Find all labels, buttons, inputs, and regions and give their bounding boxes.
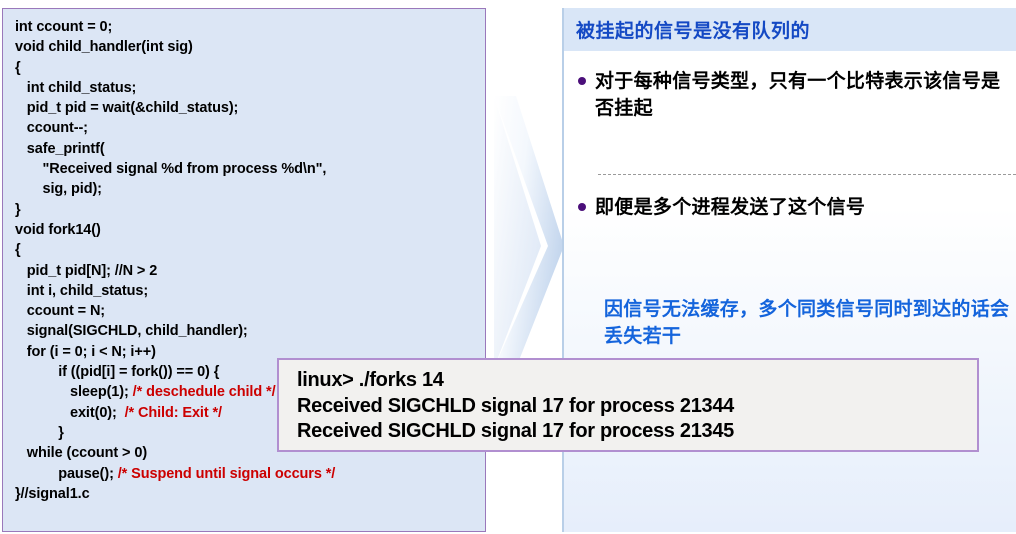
code-line: { [15, 58, 483, 78]
code-text: void child_handler(int sig) [15, 39, 193, 55]
code-text: } [15, 202, 21, 218]
code-text: ccount--; [15, 120, 88, 136]
code-text: { [15, 242, 21, 258]
code-text: ccount = N; [15, 303, 105, 319]
code-text: while (ccount > 0) [15, 445, 147, 461]
code-text: }//signal1.c [15, 486, 90, 502]
code-comment: /* Child: Exit */ [125, 405, 222, 421]
code-line: int i, child_status; [15, 281, 483, 301]
code-panel: int ccount = 0;void child_handler(int si… [2, 8, 486, 532]
code-line: void fork14() [15, 220, 483, 240]
code-text: safe_printf( [15, 141, 105, 157]
code-text: int ccount = 0; [15, 19, 112, 35]
code-line: ccount--; [15, 118, 483, 138]
bullet-dot-icon [578, 203, 586, 211]
terminal-output-text: linux> ./forks 14Received SIGCHLD signal… [297, 368, 734, 445]
code-text: int i, child_status; [15, 283, 148, 299]
terminal-output-box: linux> ./forks 14Received SIGCHLD signal… [277, 358, 979, 452]
code-line: void child_handler(int sig) [15, 37, 483, 57]
code-line: pid_t pid[N]; //N > 2 [15, 261, 483, 281]
code-text: { [15, 60, 21, 76]
code-line: { [15, 240, 483, 260]
content-panel: 被挂起的信号是没有队列的 对于每种信号类型，只有一个比特表示该信号是否挂起 即便… [562, 8, 1016, 532]
code-text: if ((pid[i] = fork()) == 0) { [15, 364, 219, 380]
code-line: pid_t pid = wait(&child_status); [15, 98, 483, 118]
code-line: signal(SIGCHLD, child_handler); [15, 321, 483, 341]
code-line: } [15, 200, 483, 220]
code-text: void fork14() [15, 222, 101, 238]
terminal-line: Received SIGCHLD signal 17 for process 2… [297, 394, 734, 420]
code-text: for (i = 0; i < N; i++) [15, 344, 156, 360]
code-line: "Received signal %d from process %d\n", [15, 159, 483, 179]
bullet-item: 即便是多个进程发送了这个信号 [578, 194, 1010, 221]
code-line: int ccount = 0; [15, 17, 483, 37]
code-line: pause(); /* Suspend until signal occurs … [15, 464, 483, 484]
bullet-item: 对于每种信号类型，只有一个比特表示该信号是否挂起 [578, 68, 1010, 122]
code-line: }//signal1.c [15, 484, 483, 504]
bullet-item-label: 即便是多个进程发送了这个信号 [595, 194, 865, 221]
code-line: sig, pid); [15, 179, 483, 199]
code-line: safe_printf( [15, 139, 483, 159]
slide-canvas: int ccount = 0;void child_handler(int si… [0, 0, 1016, 534]
code-text: sleep(1); [15, 384, 133, 400]
terminal-line: Received SIGCHLD signal 17 for process 2… [297, 419, 734, 445]
panel-title: 被挂起的信号是没有队列的 [576, 16, 810, 43]
flow-arrow-right-icon [486, 96, 566, 368]
code-line: ccount = N; [15, 301, 483, 321]
code-text: exit(0); [15, 405, 125, 421]
code-text: signal(SIGCHLD, child_handler); [15, 323, 248, 339]
code-line: int child_status; [15, 78, 483, 98]
code-comment: /* Suspend until signal occurs */ [118, 466, 335, 482]
bullet-item-label: 对于每种信号类型，只有一个比特表示该信号是否挂起 [595, 68, 1010, 122]
code-comment: /* deschedule child */ [133, 384, 276, 400]
code-text: "Received signal %d from process %d\n", [15, 161, 326, 177]
code-text: pid_t pid[N]; //N > 2 [15, 263, 157, 279]
terminal-line: linux> ./forks 14 [297, 368, 734, 394]
code-text: int child_status; [15, 80, 136, 96]
note-text: 因信号无法缓存，多个同类信号同时到达的话会丢失若干 [604, 296, 1016, 350]
section-divider [598, 174, 1016, 175]
code-text: pid_t pid = wait(&child_status); [15, 100, 238, 116]
code-text: pause(); [15, 466, 118, 482]
bullet-dot-icon [578, 77, 586, 85]
code-text: } [15, 425, 64, 441]
code-text: sig, pid); [15, 181, 102, 197]
